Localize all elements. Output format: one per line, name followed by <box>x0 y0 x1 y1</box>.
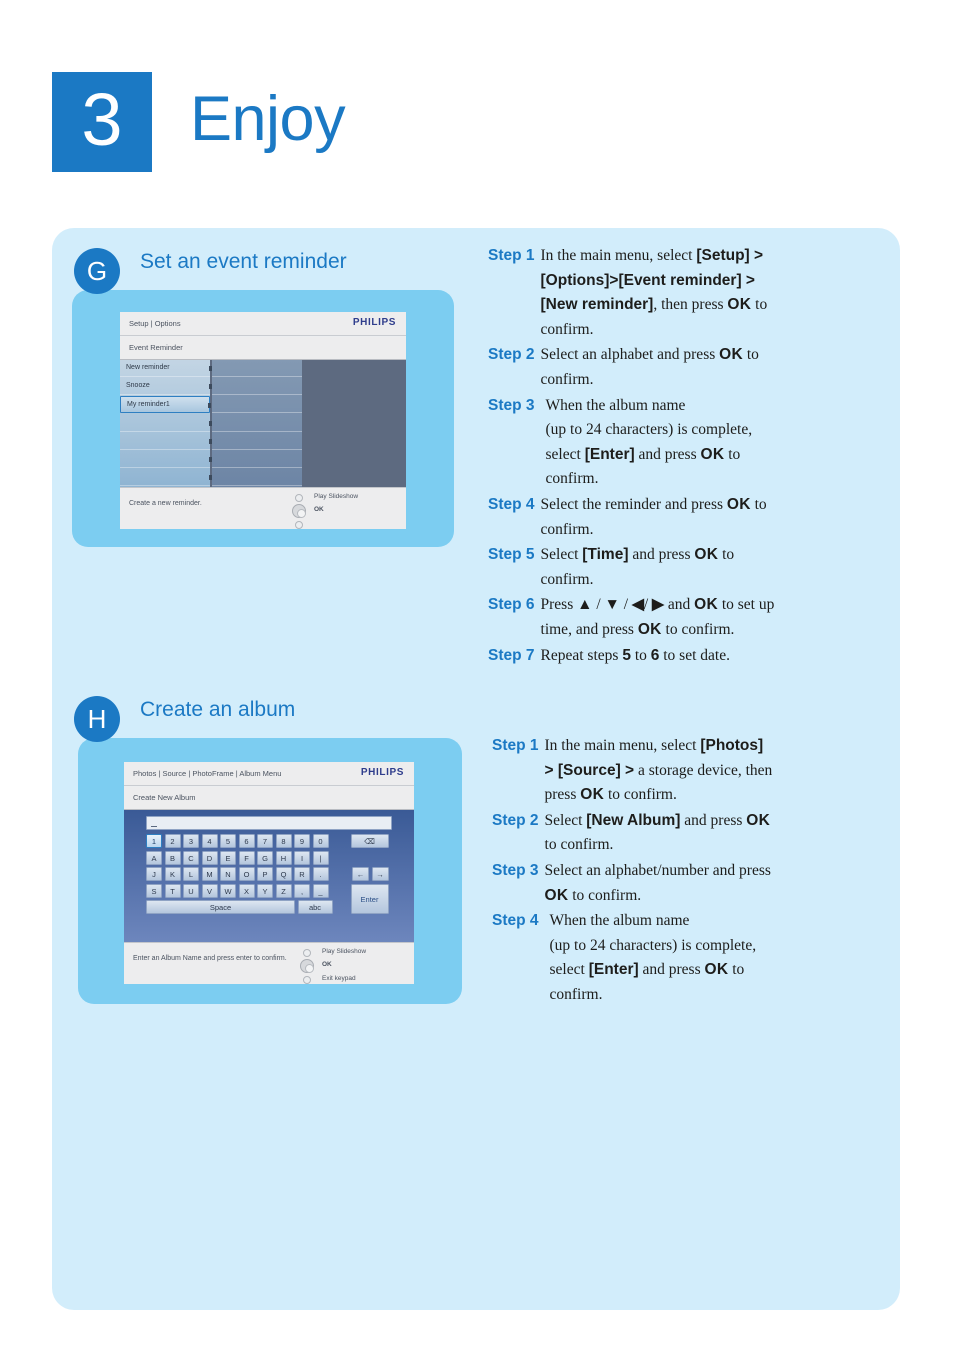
album-name-input[interactable] <box>146 816 392 830</box>
nav-down-button[interactable] <box>303 976 311 984</box>
submenu-item[interactable] <box>212 433 302 450</box>
key-i[interactable]: I <box>294 851 310 865</box>
menu-item-label: New reminder <box>126 364 170 371</box>
key-n[interactable]: N <box>220 867 236 881</box>
nav-label-exit-keypad: Exit keypad <box>322 975 356 982</box>
key-o[interactable]: O <box>239 867 255 881</box>
key-underscore[interactable]: _ <box>313 884 329 898</box>
menu-item-blank[interactable] <box>120 415 210 432</box>
step-label: Step 2 <box>492 809 539 858</box>
step-row: Step 4 When the album name (up to 24 cha… <box>492 909 904 1007</box>
key-p[interactable]: P <box>257 867 273 881</box>
keypad-row-alpha-3: S T U V W X Y Z , _ <box>146 884 404 898</box>
step-row: Step 5Select [Time] and press OK toconfi… <box>488 543 900 592</box>
keypad-row-numbers: 1 2 3 4 5 6 7 8 9 0 ⌫ <box>146 834 404 848</box>
screenshot-container-h: Photos | Source | PhotoFrame | Album Men… <box>78 738 462 1004</box>
keypad-area: 1 2 3 4 5 6 7 8 9 0 ⌫ <box>124 810 414 942</box>
page-root: 3 Enjoy G Set an event reminder Setup | … <box>0 0 954 1350</box>
nav-label-play-slideshow: Play Slideshow <box>314 493 358 500</box>
device-screenshot-event-reminder: Setup | Options PHILIPS Event Reminder N… <box>120 312 406 529</box>
step-text: In the main menu, select [Photos]> [Sour… <box>545 734 773 808</box>
key-pipe[interactable]: | <box>313 851 329 865</box>
step-label: Step 5 <box>488 543 535 592</box>
philips-logo: PHILIPS <box>353 317 396 328</box>
key-2[interactable]: 2 <box>165 834 181 848</box>
submenu-item[interactable] <box>212 469 302 486</box>
menu-item-blank[interactable] <box>120 451 210 468</box>
key-l[interactable]: L <box>183 867 199 881</box>
philips-logo: PHILIPS <box>361 767 404 778</box>
chapter-number-badge: 3 <box>52 72 152 172</box>
step-text: Select the reminder and press OK toconfi… <box>541 493 767 542</box>
key-8[interactable]: 8 <box>276 834 292 848</box>
key-t[interactable]: T <box>165 884 181 898</box>
nav-label-play-slideshow: Play Slideshow <box>322 948 366 955</box>
step-row: Step 4Select the reminder and press OK t… <box>488 493 900 542</box>
keypad-row-alpha-2: J K L M N O P Q R . Enter <box>146 867 404 881</box>
step-row: Step 7Repeat steps 5 to 6 to set date. <box>488 644 900 669</box>
section-heading-g: Set an event reminder <box>140 250 347 274</box>
device-footer-text: Create a new reminder. <box>129 500 202 507</box>
menu-column-2 <box>212 360 302 487</box>
device-footer: Create a new reminder. Play Slideshow OK <box>120 487 406 529</box>
key-s[interactable]: S <box>146 884 162 898</box>
step-text: Select [Time] and press OK toconfirm. <box>541 543 735 592</box>
key-0[interactable]: 0 <box>313 834 329 848</box>
key-a[interactable]: A <box>146 851 162 865</box>
menu-area: New reminder Snooze My reminder1 <box>120 360 406 487</box>
menu-item-blank[interactable] <box>120 469 210 486</box>
menu-column-1: New reminder Snooze My reminder1 <box>120 360 210 487</box>
space-key[interactable]: Space <box>146 900 295 914</box>
keypad-row-bottom: Space abc Cancel <box>146 900 404 914</box>
menu-item-snooze[interactable]: Snooze <box>120 378 210 395</box>
device-subtitle: Event Reminder <box>129 343 183 352</box>
key-h[interactable]: H <box>276 851 292 865</box>
step-label: Step 2 <box>488 343 535 392</box>
submenu-item[interactable] <box>212 451 302 468</box>
menu-item-new-reminder[interactable]: New reminder <box>120 360 210 377</box>
menu-item-blank[interactable] <box>120 433 210 450</box>
backspace-icon[interactable]: ⌫ <box>351 834 389 848</box>
device-footer: Enter an Album Name and press enter to c… <box>124 942 414 984</box>
key-1[interactable]: 1 <box>146 834 162 848</box>
step-row: Step 1In the main menu, select [Photos]>… <box>492 734 904 808</box>
menu-item-my-reminder1[interactable]: My reminder1 <box>120 396 210 413</box>
key-6[interactable]: 6 <box>239 834 255 848</box>
menu-item-label: Snooze <box>126 382 150 389</box>
step-text: In the main menu, select [Setup] >[Optio… <box>541 244 768 342</box>
menu-tick-icon <box>208 403 211 408</box>
key-w[interactable]: W <box>220 884 236 898</box>
abc-toggle-key[interactable]: abc <box>298 900 333 914</box>
page-header: 3 Enjoy <box>52 72 345 172</box>
key-e[interactable]: E <box>220 851 236 865</box>
submenu-item[interactable] <box>212 396 302 413</box>
nav-ok-button[interactable] <box>292 504 306 518</box>
key-u[interactable]: U <box>183 884 199 898</box>
key-d[interactable]: D <box>202 851 218 865</box>
device-breadcrumb: Setup | Options <box>129 319 181 328</box>
device-screenshot-create-album: Photos | Source | PhotoFrame | Album Men… <box>124 762 414 984</box>
step-text: Select an alphabet and press OK toconfir… <box>541 343 759 392</box>
key-period[interactable]: . <box>313 867 329 881</box>
content-panel: G Set an event reminder Setup | Options … <box>52 228 900 1310</box>
key-m[interactable]: M <box>202 867 218 881</box>
device-subtitle: Create New Album <box>133 793 196 802</box>
step-row: Step 2Select [New Album] and press OKto … <box>492 809 904 858</box>
section-heading-h: Create an album <box>140 698 295 722</box>
key-g[interactable]: G <box>257 851 273 865</box>
key-b[interactable]: B <box>165 851 181 865</box>
device-footer-text: Enter an Album Name and press enter to c… <box>133 955 287 962</box>
submenu-item[interactable] <box>212 360 302 377</box>
key-7[interactable]: 7 <box>257 834 273 848</box>
key-f[interactable]: F <box>239 851 255 865</box>
section-letter-g: G <box>74 248 120 294</box>
key-v[interactable]: V <box>202 884 218 898</box>
step-row: Step 6Press ▲ / ▼ / ◀/ ▶ and OK to set u… <box>488 593 900 642</box>
step-text: When the album name (up to 24 characters… <box>541 394 753 492</box>
step-label: Step 3 <box>492 859 539 908</box>
steps-list-h: Step 1In the main menu, select [Photos]>… <box>492 734 904 1009</box>
keypad-rows: 1 2 3 4 5 6 7 8 9 0 ⌫ <box>146 834 404 917</box>
submenu-item[interactable] <box>212 378 302 395</box>
step-label: Step 3 <box>488 394 535 492</box>
keypad-row-alpha-1: A B C D E F G H I | ← <box>146 851 404 865</box>
device-breadcrumb: Photos | Source | PhotoFrame | Album Men… <box>133 769 281 778</box>
step-label: Step 1 <box>492 734 539 808</box>
nav-up-button[interactable] <box>295 494 303 502</box>
nav-ok-button[interactable] <box>300 959 314 973</box>
key-q[interactable]: Q <box>276 867 292 881</box>
nav-up-button[interactable] <box>303 949 311 957</box>
submenu-item[interactable] <box>212 415 302 432</box>
step-row: Step 3 When the album name (up to 24 cha… <box>488 394 900 492</box>
step-text: Select [New Album] and press OKto confir… <box>545 809 771 858</box>
key-5[interactable]: 5 <box>220 834 236 848</box>
nav-label-ok: OK <box>322 961 332 968</box>
step-label: Step 6 <box>488 593 535 642</box>
key-x[interactable]: X <box>239 884 255 898</box>
step-label: Step 4 <box>488 493 535 542</box>
key-9[interactable]: 9 <box>294 834 310 848</box>
key-k[interactable]: K <box>165 867 181 881</box>
step-row: Step 1In the main menu, select [Setup] >… <box>488 244 900 342</box>
step-text: Press ▲ / ▼ / ◀/ ▶ and OK to set uptime,… <box>541 593 775 642</box>
step-row: Step 2Select an alphabet and press OK to… <box>488 343 900 392</box>
key-y[interactable]: Y <box>257 884 273 898</box>
key-j[interactable]: J <box>146 867 162 881</box>
step-text: Select an alphabet/number and pressOK to… <box>545 859 771 908</box>
step-text: When the album name (up to 24 characters… <box>545 909 757 1007</box>
step-label: Step 4 <box>492 909 539 1007</box>
screenshot-container-g: Setup | Options PHILIPS Event Reminder N… <box>72 290 454 547</box>
step-label: Step 1 <box>488 244 535 342</box>
menu-column-3 <box>304 360 406 487</box>
key-c[interactable]: C <box>183 851 199 865</box>
steps-list-g: Step 1In the main menu, select [Setup] >… <box>488 244 900 669</box>
nav-down-button[interactable] <box>295 521 303 529</box>
nav-button-cluster-h: Play Slideshow OK Exit keypad <box>292 947 402 983</box>
step-row: Step 3Select an alphabet/number and pres… <box>492 859 904 908</box>
menu-item-label: My reminder1 <box>127 401 170 408</box>
key-z[interactable]: Z <box>276 884 292 898</box>
key-4[interactable]: 4 <box>202 834 218 848</box>
key-3[interactable]: 3 <box>183 834 199 848</box>
nav-button-cluster-g: Play Slideshow OK <box>284 492 394 528</box>
step-label: Step 7 <box>488 644 535 669</box>
section-letter-h: H <box>74 696 120 742</box>
nav-label-ok: OK <box>314 506 324 513</box>
key-comma[interactable]: , <box>294 884 310 898</box>
key-r[interactable]: R <box>294 867 310 881</box>
step-text: Repeat steps 5 to 6 to set date. <box>541 644 730 669</box>
page-title: Enjoy <box>190 88 345 157</box>
